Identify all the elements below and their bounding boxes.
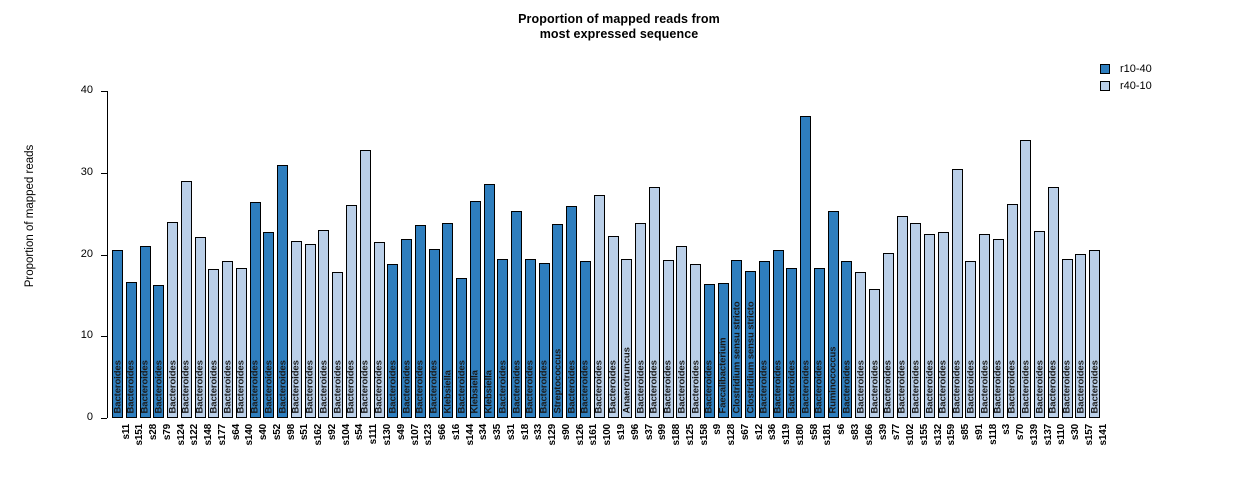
bar-label: Bacteroides (884, 360, 894, 413)
bar-s104[interactable]: Bacteroides (332, 272, 343, 418)
bar-label: Bacteroides (677, 360, 687, 413)
x-tick-label-s91: s91 (975, 424, 985, 440)
bar-label: Bacteroides (773, 360, 783, 413)
bar-label: Bacteroides (182, 360, 192, 413)
x-tick-label-s54: s54 (355, 424, 365, 440)
legend: r10-40 r40-10 (1100, 62, 1152, 96)
bar-s90[interactable]: Streptococcus (552, 224, 563, 418)
bar-s52[interactable]: Bacteroides (263, 232, 274, 418)
x-tick-label-s92: s92 (328, 424, 338, 440)
legend-item-0[interactable]: r10-40 (1100, 62, 1152, 76)
x-tick-label-s28: s28 (149, 424, 159, 440)
x-tick-label-s122: s122 (190, 424, 200, 445)
bar-label: Bacteroides (526, 360, 536, 413)
x-tick-label-s6: s6 (837, 424, 847, 435)
bar-label: Bacteroides (1076, 360, 1086, 413)
bar-label: Klebsiella (484, 370, 494, 413)
bar-s102[interactable]: Bacteroides (897, 216, 908, 418)
bar-label: Bacteroides (994, 360, 1004, 413)
bar-s18[interactable]: Bacteroides (511, 211, 522, 418)
x-tick-label-s188: s188 (672, 424, 682, 445)
bar-label: Bacteroides (952, 360, 962, 413)
bar-s162[interactable]: Bacteroides (305, 244, 316, 418)
bar-s144[interactable]: Bacteroides (456, 278, 467, 418)
bar-label: Bacteroides (856, 360, 866, 413)
bar-s16[interactable]: Klebsiella (442, 223, 453, 418)
bar-label: Bacteroides (608, 360, 618, 413)
bar-s79[interactable]: Bacteroides (153, 285, 164, 418)
bar-label: Bacteroides (319, 360, 329, 413)
x-tick-label-s31: s31 (507, 424, 517, 440)
x-tick-label-s98: s98 (287, 424, 297, 440)
x-tick-label-s51: s51 (300, 424, 310, 440)
x-tick-label-s124: s124 (177, 424, 187, 445)
bar-label: Bacteroides (1007, 360, 1017, 413)
bar-s67[interactable]: Clostridium sensu stricto (731, 260, 742, 418)
x-tick-label-s39: s39 (879, 424, 889, 440)
bar-s188[interactable]: Bacteroides (663, 260, 674, 418)
bar-label: Bacteroides (705, 360, 715, 413)
bar-label: Bacteroides (374, 360, 384, 413)
bar-s100[interactable]: Bacteroides (594, 195, 605, 418)
bar-s181[interactable]: Bacteroides (814, 268, 825, 418)
bar-s34[interactable]: Klebsiella (470, 201, 481, 418)
bar-s123[interactable]: Bacteroides (415, 225, 426, 418)
x-tick-label-s151: s151 (135, 424, 145, 445)
bar-label: Bacteroides (980, 360, 990, 413)
bar-s83[interactable]: Bacteroides (841, 261, 852, 418)
bar-label: Bacteroides (760, 360, 770, 413)
x-tick-label-s16: s16 (452, 424, 462, 440)
bar-s119[interactable]: Bacteroides (773, 250, 784, 418)
bar-s64[interactable]: Bacteroides (222, 261, 233, 418)
bar-s3[interactable]: Bacteroides (993, 239, 1004, 418)
x-tick-label-s99: s99 (658, 424, 668, 440)
bar-s137[interactable]: Bacteroides (1034, 231, 1045, 418)
bar-s122[interactable]: Bacteroides (181, 181, 192, 418)
x-tick-label-s96: s96 (631, 424, 641, 440)
bar-label: Bacteroides (113, 360, 123, 413)
x-tick-label-s11: s11 (122, 424, 132, 440)
bar-s111[interactable]: Bacteroides (360, 150, 371, 418)
bar-s91[interactable]: Bacteroides (965, 261, 976, 418)
legend-label-r10-40: r10-40 (1120, 64, 1152, 75)
bar-label: Bacteroides (154, 360, 164, 413)
bar-label: Bacteroides (636, 360, 646, 413)
x-tick-label-s100: s100 (603, 424, 613, 445)
bar-label: Bacteroides (650, 360, 660, 413)
x-tick-label-s129: s129 (548, 424, 558, 445)
bar-label: Bacteroides (168, 360, 178, 413)
x-tick-label-s35: s35 (493, 424, 503, 440)
x-tick-label-s166: s166 (865, 424, 875, 445)
x-tick-label-s155: s155 (920, 424, 930, 445)
bar-label: Bacteroides (897, 360, 907, 413)
x-tick-label-s107: s107 (411, 424, 421, 445)
bar-label: Bacteroides (911, 360, 921, 413)
bar-s30[interactable]: Bacteroides (1062, 259, 1073, 418)
bar-label: Bacteroides (567, 360, 577, 413)
bar-s161[interactable]: Bacteroides (580, 261, 591, 418)
bar-label: Streptococcus (553, 348, 563, 413)
bar-label: Bacteroides (429, 360, 439, 413)
x-tick-label-s9: s9 (713, 424, 723, 435)
bar-label: Bacteroides (305, 360, 315, 413)
bar-label: Bacteroides (1035, 360, 1045, 413)
x-tick-label-s79: s79 (163, 424, 173, 440)
x-tick-label-s161: s161 (589, 424, 599, 445)
x-tick-label-s83: s83 (851, 424, 861, 440)
bar-s58[interactable]: Bacteroides (800, 116, 811, 418)
x-tick-label-s49: s49 (397, 424, 407, 440)
x-tick-label-s126: s126 (576, 424, 586, 445)
x-tick-label-s125: s125 (686, 424, 696, 445)
x-tick-label-s70: s70 (1016, 424, 1026, 440)
x-tick-label-s64: s64 (232, 424, 242, 440)
bar-label: Bacteroides (498, 360, 508, 413)
bar-label: Clostridium sensu stricto (746, 301, 756, 413)
bar-label: Bacteroides (594, 360, 604, 413)
bar-label: Bacteroides (870, 360, 880, 413)
bar-s98[interactable]: Bacteroides (277, 165, 288, 418)
bar-label: Clostridium sensu stricto (732, 301, 742, 413)
bar-label: Bacteroides (457, 360, 467, 413)
bar-s77[interactable]: Bacteroides (883, 253, 894, 418)
bar-s54[interactable]: Bacteroides (346, 205, 357, 418)
bar-s126[interactable]: Bacteroides (566, 206, 577, 418)
x-tick-label-s130: s130 (383, 424, 393, 445)
bar-s49[interactable]: Bacteroides (387, 264, 398, 418)
legend-item-1[interactable]: r40-10 (1100, 79, 1152, 93)
x-tick-label-s104: s104 (342, 424, 352, 445)
bar-s110[interactable]: Bacteroides (1048, 187, 1059, 418)
x-tick-label-s40: s40 (259, 424, 269, 440)
bar-label: Bacteroides (815, 360, 825, 413)
bar-s128[interactable]: Faecalibacterium (718, 283, 729, 418)
bar-s166[interactable]: Bacteroides (855, 272, 866, 418)
bar-s158[interactable]: Bacteroides (690, 264, 701, 419)
x-tick-label-s52: s52 (273, 424, 283, 440)
bar-s96[interactable]: Anaerotruncus (621, 259, 632, 418)
bar-s155[interactable]: Bacteroides (910, 223, 921, 418)
bar-s51[interactable]: Bacteroides (291, 241, 302, 418)
x-tick-label-s18: s18 (521, 424, 531, 440)
bar-s180[interactable]: Bacteroides (786, 268, 797, 418)
bar-label: Bacteroides (292, 360, 302, 413)
bar-label: Bacteroides (691, 360, 701, 413)
bar-s132[interactable]: Bacteroides (924, 234, 935, 418)
x-tick-label-s119: s119 (782, 424, 792, 445)
bar-label: Bacteroides (209, 360, 219, 413)
bar-s141[interactable]: Bacteroides (1089, 250, 1100, 418)
bar-label: Bacteroides (237, 360, 247, 413)
bar-s12[interactable]: Clostridium sensu stricto (745, 271, 756, 418)
bar-label: Bacteroides (333, 360, 343, 413)
bar-s151[interactable]: Bacteroides (126, 282, 137, 418)
bar-s118[interactable]: Bacteroides (979, 234, 990, 418)
bar-label: Bacteroides (512, 360, 522, 413)
x-tick-label-s118: s118 (989, 424, 999, 445)
x-tick-label-s181: s181 (823, 424, 833, 445)
bar-s157[interactable]: Bacteroides (1075, 254, 1086, 418)
bar-s129[interactable]: Bacteroides (539, 263, 550, 418)
bar-label: Bacteroides (966, 360, 976, 413)
x-tick-label-s141: s141 (1099, 424, 1109, 445)
bar-s70[interactable]: Bacteroides (1007, 204, 1018, 418)
x-tick-label-s144: s144 (466, 424, 476, 445)
bar-label: Bacteroides (1062, 360, 1072, 413)
bar-s11[interactable]: Bacteroides (112, 250, 123, 418)
legend-label-r40-10: r40-10 (1120, 81, 1152, 92)
x-tick-label-s58: s58 (810, 424, 820, 440)
x-tick-label-s111: s111 (369, 424, 379, 444)
bar-label: Bacteroides (581, 360, 591, 413)
x-tick-label-s90: s90 (562, 424, 572, 440)
bar-s130[interactable]: Bacteroides (374, 242, 385, 418)
bar-label: Faecalibacterium (718, 337, 728, 413)
bar-label: Bacteroides (264, 360, 274, 413)
x-tick-label-s123: s123 (424, 424, 434, 445)
x-tick-label-s158: s158 (700, 424, 710, 445)
bar-s6[interactable]: Ruminococcus (828, 211, 839, 418)
x-tick-label-s37: s37 (645, 424, 655, 440)
bar-label: Bacteroides (539, 360, 549, 413)
x-tick-label-s159: s159 (947, 424, 957, 445)
bar-label: Bacteroides (925, 360, 935, 413)
x-tick-label-s137: s137 (1044, 424, 1054, 445)
bar-label: Bacteroides (416, 360, 426, 413)
x-tick-label-s3: s3 (1002, 424, 1012, 435)
x-tick-label-s85: s85 (961, 424, 971, 440)
x-tick-label-s162: s162 (314, 424, 324, 445)
x-tick-label-s132: s132 (934, 424, 944, 445)
bar-label: Bacteroides (1090, 360, 1100, 413)
bar-s35[interactable]: Klebsiella (484, 184, 495, 418)
x-tick-label-s77: s77 (892, 424, 902, 440)
bar-s99[interactable]: Bacteroides (649, 187, 660, 418)
bar-label: Bacteroides (278, 360, 288, 413)
bar-s19[interactable]: Bacteroides (608, 236, 619, 418)
bar-s33[interactable]: Bacteroides (525, 259, 536, 418)
bar-s37[interactable]: Bacteroides (635, 223, 646, 418)
legend-swatch-r40-10 (1100, 81, 1110, 91)
x-tick-label-s110: s110 (1057, 424, 1067, 445)
bar-label: Bacteroides (127, 360, 137, 413)
bar-s124[interactable]: Bacteroides (167, 222, 178, 418)
bar-label: Bacteroides (140, 360, 150, 413)
bar-s9[interactable]: Bacteroides (704, 284, 715, 418)
x-tick-label-s177: s177 (218, 424, 228, 445)
bar-s92[interactable]: Bacteroides (318, 230, 329, 418)
x-tick-label-s67: s67 (741, 424, 751, 440)
x-tick-label-s33: s33 (534, 424, 544, 440)
legend-swatch-r10-40 (1100, 64, 1110, 74)
x-tick-label-s180: s180 (796, 424, 806, 445)
bar-s66[interactable]: Bacteroides (429, 249, 440, 418)
bar-label: Bacteroides (388, 360, 398, 413)
bar-s31[interactable]: Bacteroides (497, 259, 508, 418)
chart-root: Proportion of mapped reads from most exp… (0, 0, 1238, 500)
bar-s159[interactable]: Bacteroides (938, 232, 949, 418)
bar-label: Bacteroides (195, 360, 205, 413)
bar-s139[interactable]: Bacteroides (1020, 140, 1031, 418)
bar-label: Bacteroides (801, 360, 811, 413)
bar-label: Bacteroides (663, 360, 673, 413)
bar-s28[interactable]: Bacteroides (140, 246, 151, 418)
bar-label: Bacteroides (939, 360, 949, 413)
bar-label: Bacteroides (1049, 360, 1059, 413)
bar-label: Bacteroides (402, 360, 412, 413)
bar-label: Bacteroides (250, 360, 260, 413)
bar-label: Bacteroides (223, 360, 233, 413)
bar-s85[interactable]: Bacteroides (952, 169, 963, 418)
bar-label: Bacteroides (1021, 360, 1031, 413)
bar-label: Bacteroides (347, 360, 357, 413)
x-tick-label-s139: s139 (1030, 424, 1040, 445)
bar-s39[interactable]: Bacteroides (869, 289, 880, 418)
x-tick-label-s30: s30 (1071, 424, 1081, 440)
x-tick-label-s140: s140 (245, 424, 255, 445)
x-tick-label-s66: s66 (438, 424, 448, 440)
bar-label: Bacteroides (787, 360, 797, 413)
x-tick-label-s19: s19 (617, 424, 627, 440)
x-tick-label-s34: s34 (479, 424, 489, 440)
bar-label: Klebsiella (443, 370, 453, 413)
bar-s148[interactable]: Bacteroides (195, 237, 206, 418)
bar-s125[interactable]: Bacteroides (676, 246, 687, 418)
bar-s107[interactable]: Bacteroides (401, 239, 412, 418)
bar-s140[interactable]: Bacteroides (236, 268, 247, 418)
bar-s177[interactable]: Bacteroides (208, 269, 219, 418)
x-tick-label-s128: s128 (727, 424, 737, 445)
bar-label: Bacteroides (361, 360, 371, 413)
bar-label: Ruminococcus (828, 346, 838, 413)
bar-s36[interactable]: Bacteroides (759, 261, 770, 418)
x-tick-label-s157: s157 (1085, 424, 1095, 445)
bar-label: Klebsiella (471, 370, 481, 413)
x-tick-label-s102: s102 (906, 424, 916, 445)
bar-label: Anaerotruncus (622, 347, 632, 413)
x-tick-label-s36: s36 (768, 424, 778, 440)
x-tick-label-s148: s148 (204, 424, 214, 445)
bar-label: Bacteroides (842, 360, 852, 413)
bar-s40[interactable]: Bacteroides (250, 202, 261, 418)
x-tick-label-s12: s12 (755, 424, 765, 440)
